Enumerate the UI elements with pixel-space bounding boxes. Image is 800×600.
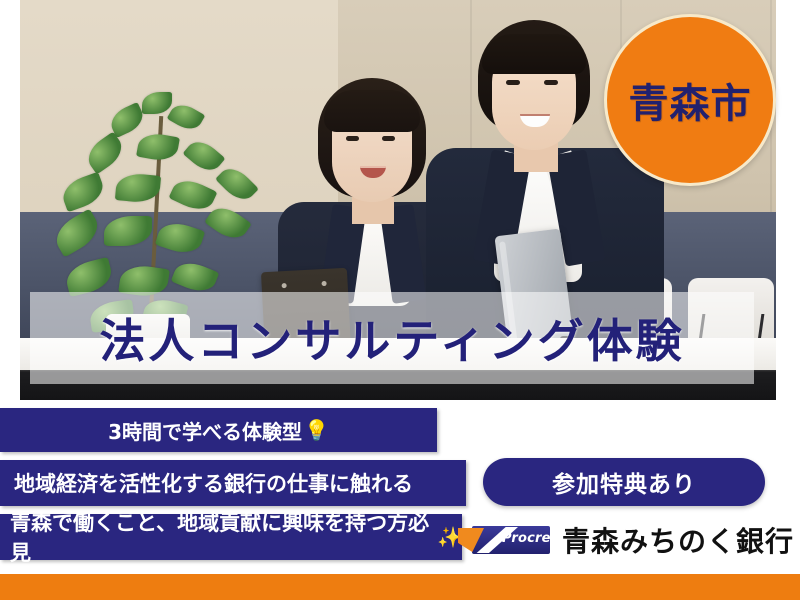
poster-root: 青森市 法人コンサルティング体験 3時間で学べる体験型 💡 地域経済を活性化する…	[0, 0, 800, 600]
city-badge-label: 青森市	[629, 71, 752, 129]
bank-name: 青森みちのく銀行	[562, 520, 794, 560]
bottom-accent-strip	[0, 574, 800, 600]
lightbulb-icon: 💡	[304, 418, 329, 442]
bank-branding: Procrea 青森みちのく銀行	[458, 519, 788, 561]
bullet-bar-2-label: 地域経済を活性化する銀行の仕事に触れる	[14, 468, 413, 498]
bullet-bar-3-label: 青森で働くこと、地域貢献に興味を持つ方必見	[10, 507, 435, 567]
page-title: 法人コンサルティング体験	[99, 305, 684, 371]
bullet-bar-3: 青森で働くこと、地域貢献に興味を持つ方必見 ✨	[0, 514, 462, 560]
procrea-logo-icon: Procrea	[458, 526, 550, 554]
bullet-bar-1-label: 3時間で学べる体験型	[108, 416, 302, 445]
city-badge: 青森市	[604, 14, 776, 186]
bullet-bar-2: 地域経済を活性化する銀行の仕事に触れる	[0, 460, 466, 506]
bullet-bar-1: 3時間で学べる体験型 💡	[0, 408, 437, 452]
participation-benefit-pill: 参加特典あり	[483, 458, 765, 506]
title-band: 法人コンサルティング体験	[30, 292, 754, 384]
participation-benefit-label: 参加特典あり	[552, 465, 696, 499]
procrea-logo-wordmark: Procrea	[502, 531, 560, 546]
